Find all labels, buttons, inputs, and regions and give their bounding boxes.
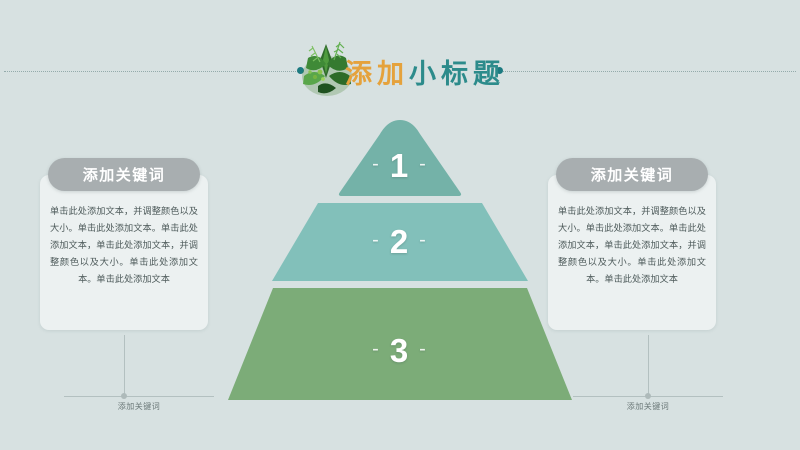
panel-right-body-text: 单击此处添加文本，并调整颜色以及大小。单击此处添加文本。单击此处添加文本，单击此… <box>558 203 706 288</box>
pyramid-tier-2-label: - 2 - <box>363 223 437 261</box>
header-dotted-rule-left <box>4 71 300 72</box>
callout-right-stem <box>648 335 649 397</box>
callout-left-label: 添加关键词 <box>64 401 214 412</box>
pyramid-tier-1-label: - 1 - <box>363 147 437 185</box>
page-title-segment-2: 小标题 <box>409 52 505 91</box>
tier-1-dash-right: - <box>410 153 437 176</box>
callout-left-node <box>121 393 127 399</box>
callout-right-label: 添加关键词 <box>573 401 723 412</box>
page-title: 添加 小标题 <box>345 52 505 90</box>
text-panel-left: 添加关键词 单击此处添加文本，并调整颜色以及大小。单击此处添加文本。单击此处添加… <box>40 175 208 330</box>
tier-2-dash-right: - <box>410 229 437 252</box>
pyramid-tier-1[interactable]: - 1 - <box>300 118 500 196</box>
pyramid-tier-3[interactable]: - 3 - <box>228 288 572 400</box>
tier-3-dash-left: - <box>363 338 390 361</box>
pyramid-tier-2[interactable]: - 2 - <box>272 203 528 281</box>
tier-2-number: 2 <box>390 223 410 261</box>
header-dotted-rule-right <box>500 71 796 72</box>
tier-1-number: 1 <box>390 147 410 185</box>
tier-3-number: 3 <box>390 332 410 370</box>
callout-left-stem <box>124 335 125 397</box>
callout-left-baseline <box>64 396 214 397</box>
callout-right-node <box>645 393 651 399</box>
keyword-pill-right[interactable]: 添加关键词 <box>556 158 708 191</box>
keyword-pill-left[interactable]: 添加关键词 <box>48 158 200 191</box>
slide-header: 添加 小标题 <box>0 18 800 90</box>
tier-3-dash-right: - <box>410 338 437 361</box>
panel-left-body-text: 单击此处添加文本，并调整颜色以及大小。单击此处添加文本。单击此处添加文本，单击此… <box>50 203 198 288</box>
keyword-pill-left-label: 添加关键词 <box>83 164 166 185</box>
text-panel-right: 添加关键词 单击此处添加文本，并调整颜色以及大小。单击此处添加文本。单击此处添加… <box>548 175 716 330</box>
slide-canvas: 添加 小标题 - 1 - - 2 - <box>0 0 800 450</box>
page-title-segment-1: 添加 <box>345 52 409 91</box>
tier-2-dash-left: - <box>363 229 390 252</box>
tier-1-dash-left: - <box>363 153 390 176</box>
pyramid-tier-3-label: - 3 - <box>363 332 437 370</box>
keyword-pill-right-label: 添加关键词 <box>591 164 674 185</box>
